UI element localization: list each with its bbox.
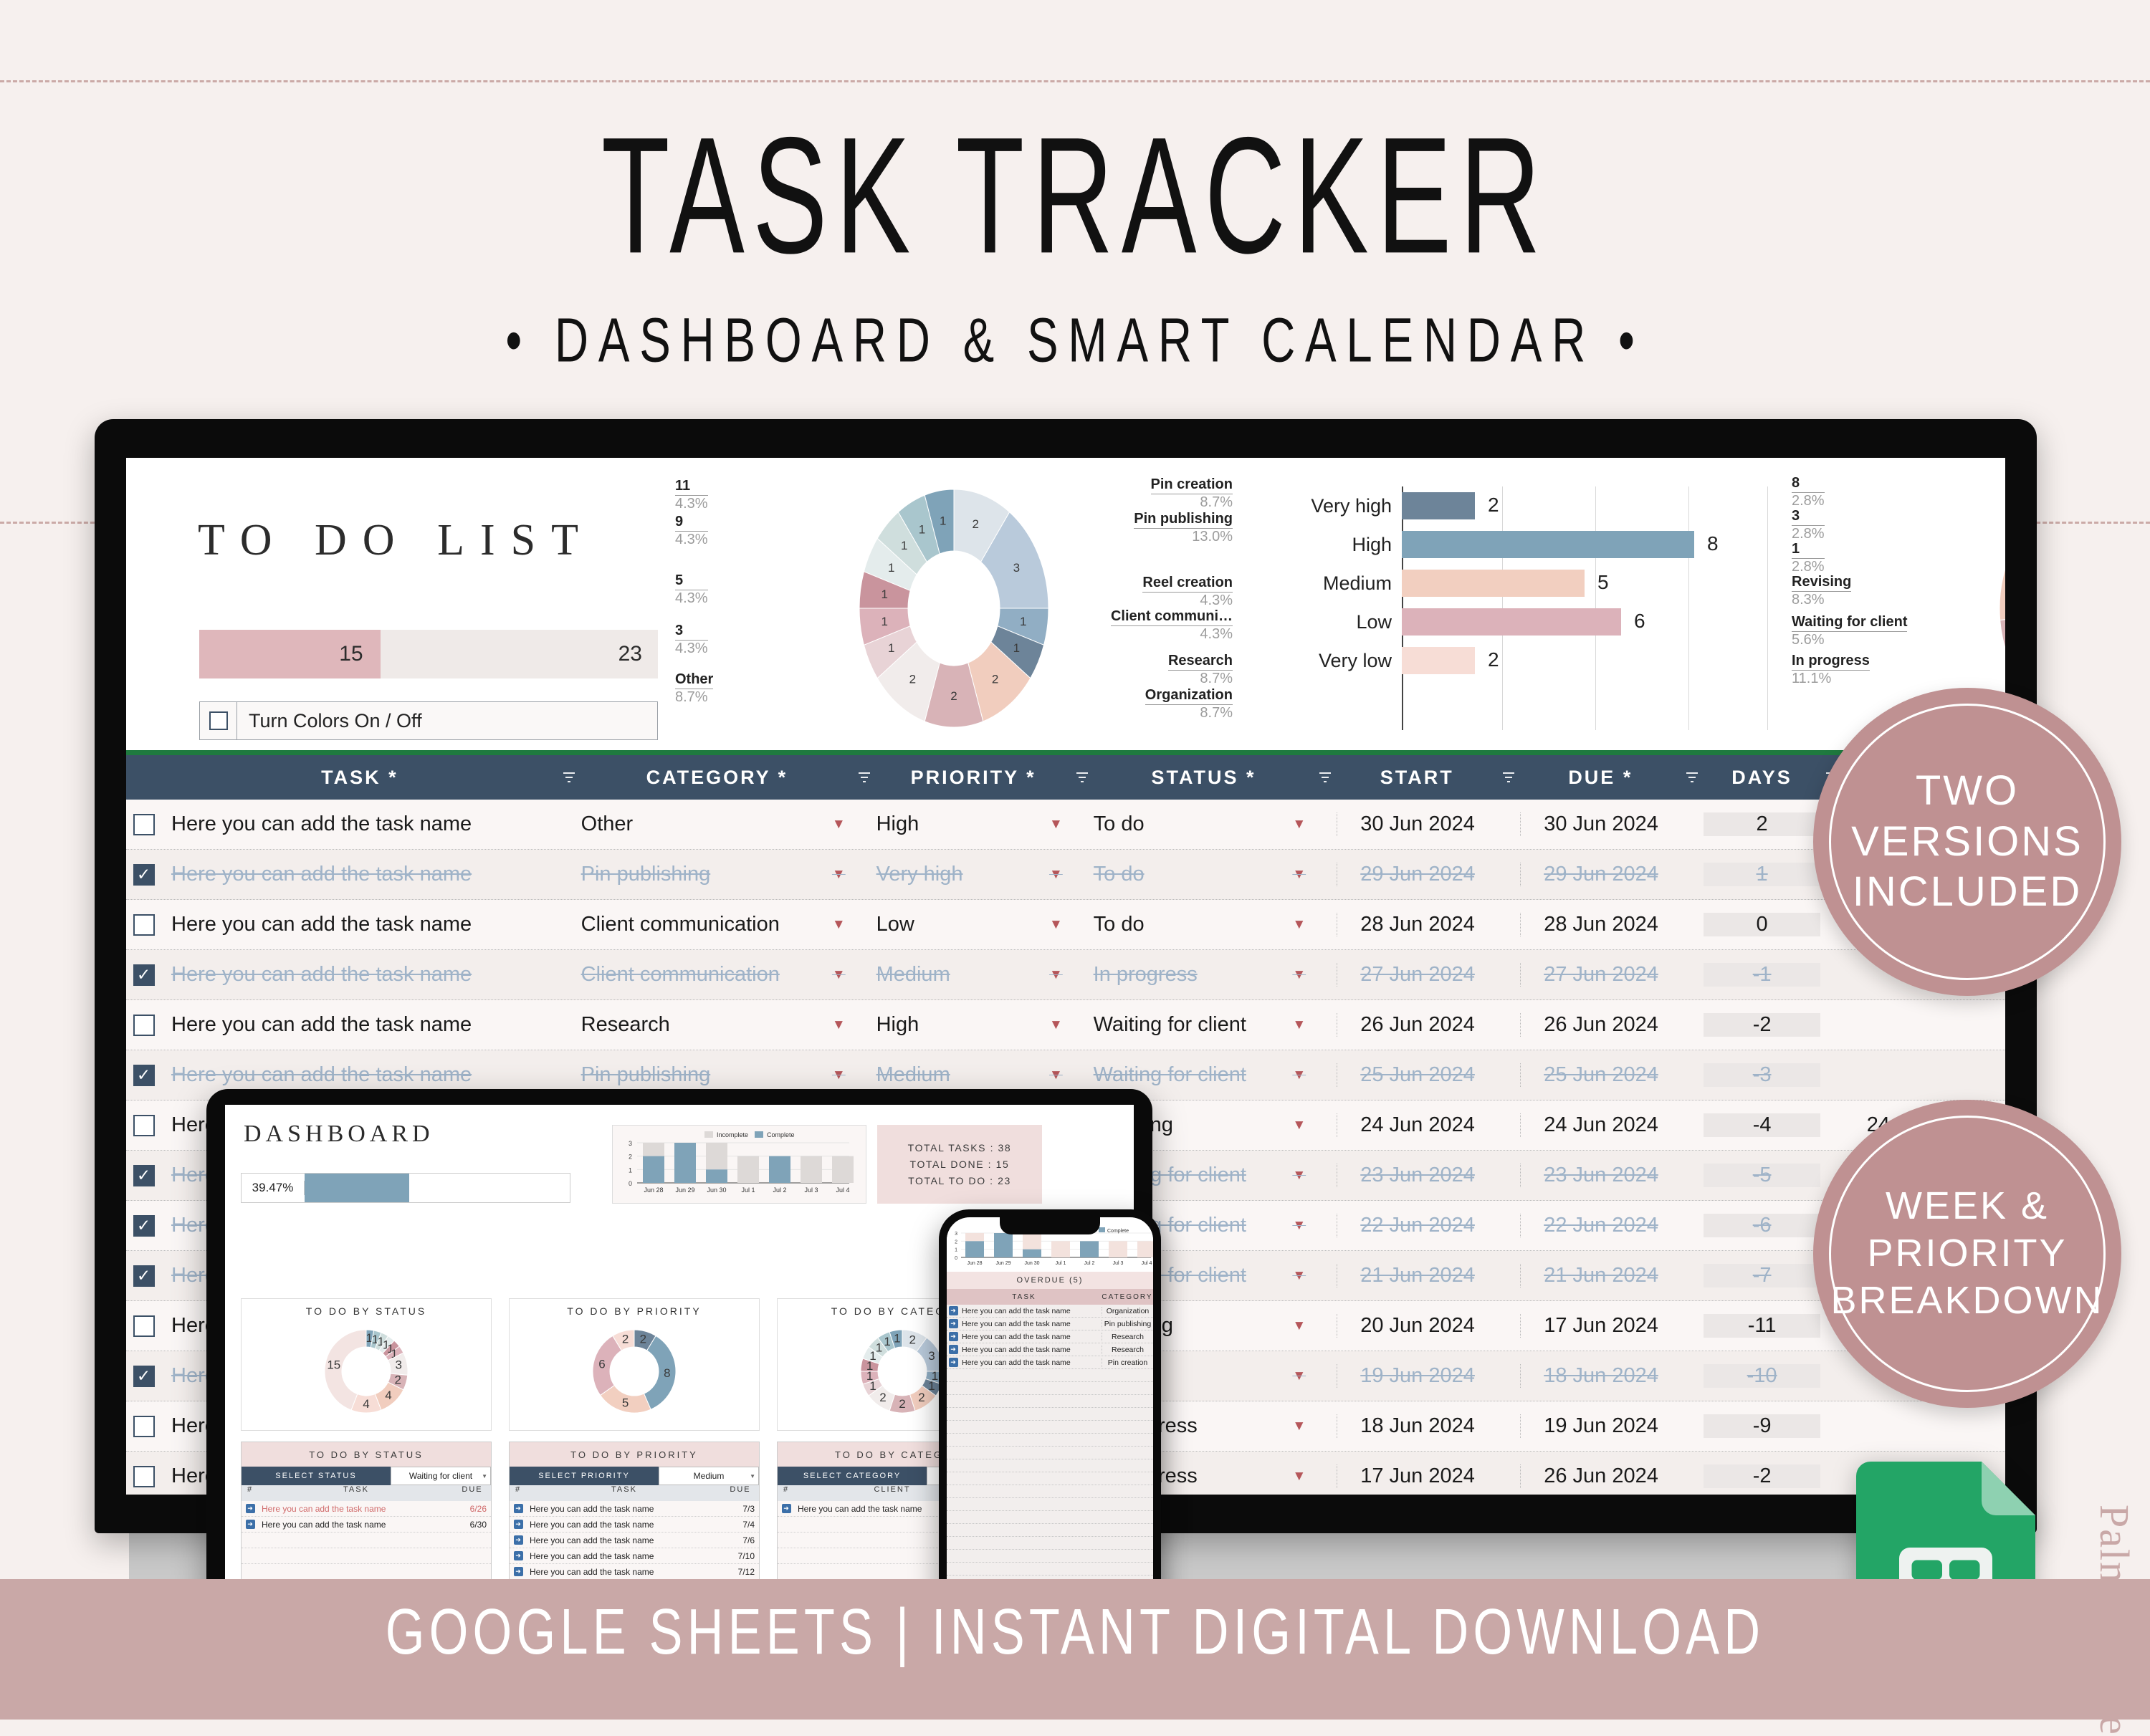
cell-priority[interactable]: Very high▼: [876, 863, 1071, 886]
status-label-1: 12.8%: [1792, 541, 1825, 575]
phone-cell-task: Here you can add the task name: [960, 1358, 1102, 1367]
svg-text:1: 1: [1020, 615, 1026, 628]
cell-category[interactable]: Research▼: [581, 1013, 854, 1037]
svg-text:1: 1: [955, 1248, 957, 1253]
list-item-task: Here you can add the task name: [527, 1535, 722, 1545]
select-value[interactable]: Waiting for client▼: [391, 1467, 491, 1485]
dropdown-caret-icon[interactable]: ▼: [1292, 1469, 1314, 1485]
cell-task[interactable]: Here you can add the task name: [161, 913, 559, 936]
table-row[interactable]: Here you can add the task nameOther▼High…: [126, 800, 2005, 850]
cell-task[interactable]: Here you can add the task name: [161, 963, 559, 987]
list-item-due: 7/12: [722, 1567, 759, 1577]
cell-category[interactable]: Other▼: [581, 812, 854, 836]
row-checkbox[interactable]: [126, 1165, 161, 1186]
filter-icon[interactable]: [1314, 770, 1337, 785]
cell-priority[interactable]: Medium▼: [876, 963, 1071, 987]
svg-text:2: 2: [629, 1154, 632, 1161]
open-row-icon[interactable]: [514, 1567, 523, 1576]
svg-text:3: 3: [629, 1140, 632, 1147]
cell-status[interactable]: In progress▼: [1094, 963, 1315, 987]
status-label-waiting: Waiting for client5.6%: [1792, 614, 1907, 648]
priority-bar-value: 2: [1488, 648, 1499, 671]
cell-due[interactable]: 30 Jun 2024: [1520, 812, 1681, 836]
svg-text:2: 2: [909, 673, 916, 686]
phone-row-empty: [947, 1382, 1153, 1395]
phone-row-empty: [947, 1421, 1153, 1434]
select-value[interactable]: Medium▼: [659, 1467, 759, 1485]
turn-colors-label: Turn Colors On / Off: [237, 710, 422, 732]
badge1-line2: VERSIONS: [1851, 817, 2083, 868]
cell-start[interactable]: 26 Jun 2024: [1337, 1013, 1498, 1037]
dropdown-caret-icon[interactable]: ▼: [1292, 1017, 1314, 1033]
dashboard-progress-fill: [305, 1174, 409, 1202]
priority-mini-donut: 28562: [510, 1317, 759, 1424]
svg-text:3: 3: [928, 1349, 935, 1363]
dropdown-caret-icon[interactable]: ▼: [1292, 1118, 1314, 1133]
row-checkbox[interactable]: [126, 1015, 161, 1036]
phone-row-empty: [947, 1524, 1153, 1537]
priority-bar-fill: [1402, 492, 1475, 519]
svg-text:1: 1: [881, 615, 887, 628]
phone-cell-task: Here you can add the task name: [960, 1346, 1102, 1354]
open-row-icon[interactable]: [782, 1504, 791, 1513]
cell-days: -2: [1704, 1013, 1820, 1037]
row-checkbox[interactable]: [126, 1265, 161, 1287]
cell-priority[interactable]: High▼: [876, 812, 1071, 836]
dropdown-caret-icon[interactable]: ▼: [1292, 1368, 1314, 1384]
svg-text:Jul 3: Jul 3: [1113, 1261, 1124, 1266]
sheet-accent-bar: [126, 750, 2005, 755]
priority-bar-value: 8: [1707, 532, 1719, 555]
list-item-due: 6/30: [454, 1520, 491, 1530]
open-row-icon[interactable]: [949, 1358, 958, 1367]
open-row-icon[interactable]: [949, 1319, 958, 1328]
svg-text:1: 1: [919, 522, 925, 536]
svg-text:Complete: Complete: [767, 1131, 795, 1138]
cell-status[interactable]: To do▼: [1094, 913, 1315, 936]
list-item-due: 7/10: [722, 1551, 759, 1561]
priority-bar-label: Medium: [1266, 572, 1402, 595]
cell-start[interactable]: 17 Jun 2024: [1337, 1464, 1498, 1488]
open-row-icon[interactable]: [514, 1504, 523, 1513]
phone-row-empty: [947, 1408, 1153, 1421]
page-title: TASK TRACKER: [215, 100, 1935, 291]
priority-bar-row: Very high2: [1266, 486, 1767, 525]
open-row-icon[interactable]: [949, 1345, 958, 1354]
dropdown-caret-icon[interactable]: ▼: [1292, 967, 1314, 983]
dropdown-caret-icon[interactable]: ▼: [832, 1068, 854, 1083]
chevron-down-icon[interactable]: ▼: [482, 1473, 487, 1480]
cell-due[interactable]: 29 Jun 2024: [1520, 863, 1681, 886]
list-item-task: Here you can add the task name: [259, 1504, 454, 1514]
bottom-banner: GOOGLE SHEETS | INSTANT DIGITAL DOWNLOAD: [0, 1579, 2150, 1720]
cat-label-3: 34.3%: [675, 623, 708, 657]
list-item-due: 7/4: [722, 1520, 759, 1530]
dropdown-caret-icon[interactable]: ▼: [1292, 817, 1314, 833]
priority-bar-row: Very low2: [1266, 641, 1767, 680]
list-item[interactable]: Here you can add the task name 7/6: [510, 1533, 759, 1548]
svg-text:1: 1: [629, 1166, 632, 1174]
cell-days: -11: [1704, 1314, 1820, 1338]
list-item-empty: [242, 1533, 491, 1548]
col-days[interactable]: DAYS: [1704, 767, 1820, 789]
phone-table-row[interactable]: Here you can add the task name Research: [947, 1330, 1153, 1343]
cell-days: -2: [1704, 1464, 1820, 1488]
cell-days: -5: [1704, 1164, 1820, 1187]
cell-due[interactable]: 26 Jun 2024: [1520, 1013, 1681, 1037]
cell-start[interactable]: 22 Jun 2024: [1337, 1214, 1498, 1237]
row-checkbox[interactable]: [126, 864, 161, 886]
badge2-line2: PRIORITY: [1867, 1230, 2067, 1277]
dropdown-caret-icon[interactable]: ▼: [1292, 1218, 1314, 1234]
cell-due[interactable]: 25 Jun 2024: [1520, 1063, 1681, 1087]
open-row-icon[interactable]: [514, 1551, 523, 1560]
dropdown-caret-icon[interactable]: ▼: [1292, 867, 1314, 883]
list-item-task: Here you can add the task name: [259, 1520, 454, 1530]
row-checkbox[interactable]: [126, 1366, 161, 1387]
cat-label-research: Research8.7%: [1168, 653, 1233, 687]
phone-table-header: TASK CATEGORY: [947, 1289, 1153, 1305]
decorative-dash-line-top: [0, 80, 2150, 82]
donut-title-status: TO DO BY STATUS: [242, 1299, 491, 1317]
cell-days: -7: [1704, 1264, 1820, 1287]
cell-days: -9: [1704, 1414, 1820, 1438]
list-col-due: DUE: [454, 1485, 491, 1501]
priority-bar-row: High8: [1266, 525, 1767, 564]
cell-priority[interactable]: Medium▼: [876, 1063, 1071, 1087]
progress-bar-done: 15: [199, 630, 381, 678]
phone-cell-category: Pin creation: [1102, 1358, 1153, 1367]
status-mini-donut: 111111324415: [242, 1317, 491, 1424]
cell-days: 0: [1704, 913, 1820, 936]
cell-status[interactable]: Waiting for client▼: [1094, 1063, 1315, 1087]
priority-bar-label: High: [1266, 534, 1402, 556]
col-category[interactable]: CATEGORY *: [580, 767, 854, 789]
list-col-task: TASK: [527, 1485, 722, 1501]
open-row-icon[interactable]: [949, 1306, 958, 1315]
row-checkbox[interactable]: [126, 1215, 161, 1237]
phone-row-empty: [947, 1459, 1153, 1472]
list-item[interactable]: Here you can add the task name 7/10: [510, 1548, 759, 1564]
weekly-bar-chart: IncompleteComplete 0123Jun 28Jun 29Jun 3…: [612, 1125, 866, 1204]
phone-row-empty: [947, 1369, 1153, 1382]
svg-text:8: 8: [664, 1366, 670, 1380]
list-item-task: Here you can add the task name: [527, 1520, 722, 1530]
list-item-due: 7/6: [722, 1535, 759, 1545]
svg-text:Incomplete: Incomplete: [717, 1131, 748, 1138]
cell-start[interactable]: 20 Jun 2024: [1337, 1314, 1498, 1338]
phone-row-empty: [947, 1498, 1153, 1511]
dropdown-caret-icon[interactable]: ▼: [1292, 1318, 1314, 1334]
list-item[interactable]: Here you can add the task name 6/26: [242, 1501, 491, 1517]
bottom-banner-text: GOOGLE SHEETS | INSTANT DIGITAL DOWNLOAD: [129, 1595, 2021, 1669]
priority-bar-label: Low: [1266, 611, 1402, 633]
cell-status[interactable]: Waiting for client▼: [1094, 1013, 1315, 1037]
cell-due[interactable]: 23 Jun 2024: [1520, 1164, 1681, 1187]
svg-text:Jul 4: Jul 4: [836, 1186, 849, 1194]
cat-label-reel-creation: Reel creation4.3%: [1142, 575, 1233, 609]
cell-task[interactable]: Here you can add the task name: [161, 1013, 559, 1037]
task-table-header: TASK * CATEGORY * PRIORITY * STATUS * ST…: [126, 755, 2005, 800]
badge2-line1: WEEK &: [1886, 1183, 2049, 1230]
open-row-icon[interactable]: [514, 1535, 523, 1545]
table-row[interactable]: Here you can add the task namePin publis…: [126, 850, 2005, 900]
phone-col-task: TASK: [947, 1293, 1102, 1301]
cell-due[interactable]: 27 Jun 2024: [1520, 963, 1681, 987]
list-item-task: Here you can add the task name: [527, 1551, 722, 1561]
svg-text:2: 2: [992, 673, 998, 686]
cell-due[interactable]: 22 Jun 2024: [1520, 1214, 1681, 1237]
list-item-task: Here you can add the task name: [527, 1504, 722, 1514]
svg-text:Jul 2: Jul 2: [1084, 1261, 1095, 1266]
filter-icon[interactable]: [558, 770, 580, 785]
cell-start[interactable]: 28 Jun 2024: [1337, 913, 1498, 936]
svg-text:2: 2: [879, 1391, 886, 1404]
total-done: TOTAL DONE : 15: [910, 1159, 1010, 1170]
cell-start[interactable]: 29 Jun 2024: [1337, 863, 1498, 886]
table-row[interactable]: Here you can add the task nameClient com…: [126, 900, 2005, 950]
priority-bar-row: Medium5: [1266, 564, 1767, 603]
cell-priority[interactable]: High▼: [876, 1013, 1071, 1037]
cell-start[interactable]: 21 Jun 2024: [1337, 1264, 1498, 1287]
priority-bar-value: 6: [1634, 610, 1645, 633]
col-task[interactable]: TASK *: [161, 767, 558, 789]
progress-bar-total: 23: [381, 642, 658, 666]
priority-bar-value: 5: [1597, 571, 1609, 594]
dropdown-caret-icon[interactable]: ▼: [1292, 1268, 1314, 1284]
row-checkbox[interactable]: [126, 814, 161, 835]
priority-bar-fill: [1402, 608, 1621, 636]
open-row-icon[interactable]: [949, 1332, 958, 1341]
chevron-down-icon[interactable]: ▼: [750, 1473, 755, 1480]
svg-text:Jul 1: Jul 1: [1056, 1261, 1066, 1266]
cell-start[interactable]: 24 Jun 2024: [1337, 1113, 1498, 1137]
svg-text:2: 2: [909, 1333, 915, 1346]
open-row-icon[interactable]: [246, 1504, 255, 1513]
dashboard-progress-percent: 39.47%: [242, 1181, 305, 1195]
list-item-task: Here you can add the task name: [527, 1567, 722, 1577]
svg-text:Jun 29: Jun 29: [995, 1261, 1010, 1266]
dropdown-caret-icon[interactable]: ▼: [1049, 1017, 1071, 1033]
priority-bar-row: Low6: [1266, 603, 1767, 641]
dashboard-progress: 39.47%: [241, 1173, 570, 1203]
todo-list-title: TO DO LIST: [198, 515, 594, 566]
dropdown-caret-icon[interactable]: ▼: [1292, 1419, 1314, 1434]
svg-text:Jul 1: Jul 1: [741, 1186, 755, 1194]
category-donut-chart: 23112221111111 114.3% 94.3% 54.3% 34.3% …: [671, 472, 1237, 744]
dropdown-caret-icon[interactable]: ▼: [1049, 817, 1071, 833]
svg-text:Jun 30: Jun 30: [1024, 1261, 1039, 1266]
cell-start[interactable]: 27 Jun 2024: [1337, 963, 1498, 987]
dropdown-caret-icon[interactable]: ▼: [1049, 867, 1071, 883]
cell-due[interactable]: 26 Jun 2024: [1520, 1464, 1681, 1488]
cell-task[interactable]: Here you can add the task name: [161, 1063, 559, 1087]
dropdown-caret-icon[interactable]: ▼: [1292, 1068, 1314, 1083]
svg-text:0: 0: [629, 1180, 632, 1187]
dashboard-title: DASHBOARD: [244, 1121, 434, 1148]
progress-bar: 15 23: [199, 630, 658, 678]
cell-days: 2: [1704, 812, 1820, 836]
cell-days: -3: [1704, 1063, 1820, 1087]
badge2-line3: BREAKDOWN: [1830, 1277, 2103, 1325]
filter-icon[interactable]: [1071, 770, 1093, 785]
phone-row-empty: [947, 1447, 1153, 1459]
donut-card-status: TO DO BY STATUS 111111324415: [241, 1298, 492, 1431]
list-card-title: TO DO BY PRIORITY: [510, 1442, 759, 1467]
svg-text:2: 2: [973, 517, 979, 531]
badge-week-priority: WEEK & PRIORITY BREAKDOWN: [1813, 1100, 2121, 1408]
row-checkbox[interactable]: [126, 1416, 161, 1437]
cell-category[interactable]: Pin publishing▼: [581, 1063, 854, 1087]
cat-label-other: Other8.7%: [675, 671, 713, 706]
cat-label-pin-creation: Pin creation8.7%: [1151, 476, 1233, 511]
col-priority[interactable]: PRIORITY *: [876, 767, 1071, 789]
svg-text:5: 5: [622, 1396, 629, 1409]
dropdown-caret-icon[interactable]: ▼: [1049, 917, 1071, 933]
cell-start[interactable]: 30 Jun 2024: [1337, 812, 1498, 836]
turn-colors-toggle[interactable]: Turn Colors On / Off: [199, 701, 658, 740]
row-checkbox[interactable]: [126, 1315, 161, 1337]
cat-label-organization: Organization8.7%: [1145, 687, 1233, 721]
svg-text:Jul 4: Jul 4: [1142, 1261, 1152, 1266]
filter-icon[interactable]: [1498, 770, 1520, 785]
dropdown-caret-icon[interactable]: ▼: [832, 817, 854, 833]
dropdown-caret-icon[interactable]: ▼: [832, 917, 854, 933]
phone-row-empty: [947, 1550, 1153, 1563]
dropdown-caret-icon[interactable]: ▼: [832, 867, 854, 883]
cell-category[interactable]: Client communication▼: [581, 913, 854, 936]
checkbox-icon[interactable]: [200, 702, 237, 739]
cell-due[interactable]: 24 Jun 2024: [1520, 1113, 1681, 1137]
svg-text:Jul 2: Jul 2: [773, 1186, 786, 1194]
phone-table-row[interactable]: Here you can add the task name Pin creat…: [947, 1356, 1153, 1369]
cell-start[interactable]: 25 Jun 2024: [1337, 1063, 1498, 1087]
col-due[interactable]: DUE *: [1520, 767, 1681, 789]
totals-card: TOTAL TASKS : 38 TOTAL DONE : 15 TOTAL T…: [877, 1125, 1042, 1204]
row-checkbox[interactable]: [126, 964, 161, 986]
svg-text:1: 1: [884, 1335, 890, 1348]
open-row-icon[interactable]: [246, 1520, 255, 1529]
phone-cell-category: Research: [1102, 1346, 1153, 1354]
cell-due[interactable]: 18 Jun 2024: [1520, 1364, 1681, 1388]
cell-task[interactable]: Here you can add the task name: [161, 863, 559, 886]
svg-text:Jun 28: Jun 28: [644, 1186, 663, 1194]
row-checkbox[interactable]: [126, 914, 161, 936]
svg-text:1: 1: [888, 561, 894, 575]
status-label-revising: Revising8.3%: [1792, 574, 1851, 608]
phone-col-category: CATEGORY: [1102, 1293, 1153, 1301]
svg-text:15: 15: [327, 1358, 340, 1372]
phone-row-empty: [947, 1472, 1153, 1485]
cat-label-11: 114.3%: [675, 478, 708, 512]
row-checkbox[interactable]: [126, 1466, 161, 1487]
phone-cell-category: Research: [1102, 1333, 1153, 1341]
phone-table-row[interactable]: Here you can add the task name Pin publi…: [947, 1318, 1153, 1330]
col-start[interactable]: START: [1337, 767, 1498, 789]
col-status[interactable]: STATUS *: [1093, 767, 1314, 789]
priority-bar-fill: [1402, 647, 1475, 674]
svg-text:Jul 3: Jul 3: [804, 1186, 818, 1194]
dropdown-caret-icon[interactable]: ▼: [832, 1017, 854, 1033]
svg-text:2: 2: [899, 1397, 905, 1411]
table-row[interactable]: Here you can add the task nameResearch▼H…: [126, 1000, 2005, 1050]
cell-due[interactable]: 19 Jun 2024: [1520, 1414, 1681, 1438]
phone-table-row[interactable]: Here you can add the task name Organizat…: [947, 1305, 1153, 1318]
list-col-task: TASK: [259, 1485, 454, 1501]
cell-days: -6: [1704, 1214, 1820, 1237]
dropdown-caret-icon[interactable]: ▼: [832, 967, 854, 983]
svg-text:2: 2: [950, 689, 957, 703]
list-item[interactable]: Here you can add the task name 7/12: [510, 1564, 759, 1580]
list-item-empty: [242, 1564, 491, 1580]
svg-text:2: 2: [395, 1373, 401, 1387]
dropdown-caret-icon[interactable]: ▼: [1049, 1068, 1071, 1083]
donut-card-priority: TO DO BY PRIORITY 28562: [509, 1298, 760, 1431]
cat-label-pin-publishing: Pin publishing13.0%: [1134, 511, 1233, 545]
svg-text:2: 2: [622, 1333, 629, 1346]
dropdown-caret-icon[interactable]: ▼: [1049, 967, 1071, 983]
filter-icon[interactable]: [854, 770, 876, 785]
phone-cell-task: Here you can add the task name: [960, 1307, 1102, 1315]
svg-text:3: 3: [1013, 561, 1020, 575]
phone-cell-task: Here you can add the task name: [960, 1320, 1102, 1328]
list-card-title: TO DO BY STATUS: [242, 1442, 491, 1467]
phone-row-empty: [947, 1485, 1153, 1498]
cell-due[interactable]: 17 Jun 2024: [1520, 1314, 1681, 1338]
cell-due[interactable]: 21 Jun 2024: [1520, 1264, 1681, 1287]
svg-text:1: 1: [888, 641, 894, 655]
table-row[interactable]: Here you can add the task nameClient com…: [126, 950, 2005, 1000]
list-item-due: 6/26: [454, 1504, 491, 1514]
svg-text:Jun 30: Jun 30: [707, 1186, 726, 1194]
cell-start[interactable]: 18 Jun 2024: [1337, 1414, 1498, 1438]
cell-task[interactable]: Here you can add the task name: [161, 812, 559, 836]
list-item[interactable]: Here you can add the task name 7/4: [510, 1517, 759, 1533]
cell-start[interactable]: 23 Jun 2024: [1337, 1164, 1498, 1187]
badge1-line1: TWO: [1916, 766, 2019, 817]
open-row-icon[interactable]: [514, 1520, 523, 1529]
list-col-due: DUE: [722, 1485, 759, 1501]
row-checkbox[interactable]: [126, 1115, 161, 1136]
row-checkbox[interactable]: [126, 1065, 161, 1086]
cell-status[interactable]: To do▼: [1094, 863, 1315, 886]
list-item[interactable]: Here you can add the task name 6/30: [242, 1517, 491, 1533]
page-subtitle: • DASHBOARD & SMART CALENDAR •: [150, 304, 1999, 376]
cell-priority[interactable]: Low▼: [876, 913, 1071, 936]
cell-start[interactable]: 19 Jun 2024: [1337, 1364, 1498, 1388]
list-item[interactable]: Here you can add the task name 7/3: [510, 1501, 759, 1517]
cell-category[interactable]: Pin publishing▼: [581, 863, 854, 886]
svg-text:4: 4: [385, 1389, 391, 1402]
phone-screen: 0123Jun 28Jun 29Jun 30Jul 1Jul 2Jul 3Jul…: [947, 1217, 1153, 1640]
total-tasks: TOTAL TASKS : 38: [908, 1142, 1012, 1154]
dropdown-caret-icon[interactable]: ▼: [1292, 1168, 1314, 1184]
cell-days: -4: [1704, 1113, 1820, 1137]
phone-table-row[interactable]: Here you can add the task name Research: [947, 1343, 1153, 1356]
weekly-bar-chart-svg: IncompleteComplete 0123Jun 28Jun 29Jun 3…: [613, 1126, 867, 1204]
priority-bar-label: Very low: [1266, 650, 1402, 672]
priority-bar-fill: [1402, 570, 1585, 597]
dropdown-caret-icon[interactable]: ▼: [1292, 917, 1314, 933]
total-todo: TOTAL TO DO : 23: [908, 1175, 1011, 1186]
cell-category[interactable]: Client communication▼: [581, 963, 854, 987]
svg-text:1: 1: [881, 588, 887, 601]
list-item-empty: [242, 1548, 491, 1564]
cell-due[interactable]: 28 Jun 2024: [1520, 913, 1681, 936]
filter-icon[interactable]: [1681, 770, 1704, 785]
cell-status[interactable]: To do▼: [1094, 812, 1315, 836]
cell-days: 1: [1704, 863, 1820, 886]
